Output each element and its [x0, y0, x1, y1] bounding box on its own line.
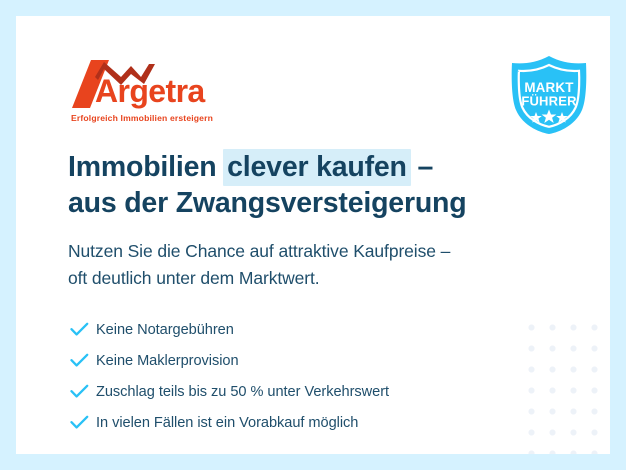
svg-text:Argetra: Argetra — [95, 73, 205, 109]
list-item: Zuschlag teils bis zu 50 % unter Verkehr… — [70, 376, 530, 407]
headline-line-1: Immobilien clever kaufen – — [68, 149, 538, 185]
list-item: In vielen Fällen ist ein Vorabkauf mögli… — [70, 407, 530, 438]
check-icon — [70, 353, 96, 368]
headline-line-2: aus der Zwangsversteigerung — [68, 185, 538, 221]
headline-text-after: – — [410, 151, 433, 183]
badge-line2: FÜHRER — [521, 94, 577, 109]
list-item: Keine Maklerprovision — [70, 345, 530, 376]
list-item: Keine Notargebühren — [70, 314, 530, 345]
argetra-logo[interactable]: Argetra Erfolgreich Immobilien ersteiger… — [69, 60, 269, 132]
list-item-label: Keine Notargebühren — [96, 321, 234, 339]
headline-text-before: Immobilien — [68, 151, 224, 183]
check-icon — [70, 384, 96, 399]
check-icon — [70, 322, 96, 337]
promo-banner: Argetra Erfolgreich Immobilien ersteiger… — [0, 0, 626, 470]
logo-tagline: Erfolgreich Immobilien ersteigern — [71, 113, 213, 123]
check-icon — [70, 415, 96, 430]
benefits-list: Keine Notargebühren Keine Maklerprovisio… — [70, 314, 530, 438]
list-item-label: Zuschlag teils bis zu 50 % unter Verkehr… — [96, 383, 389, 401]
list-item-label: Keine Maklerprovision — [96, 352, 239, 370]
subtitle-line-1: Nutzen Sie die Chance auf attraktive Kau… — [68, 238, 548, 265]
page-title: Immobilien clever kaufen – aus der Zwang… — [68, 149, 538, 221]
banner-card: Argetra Erfolgreich Immobilien ersteiger… — [16, 16, 610, 454]
list-item-label: In vielen Fällen ist ein Vorabkauf mögli… — [96, 414, 358, 432]
subtitle-line-2: oft deutlich unter dem Marktwert. — [68, 265, 548, 292]
page-subtitle: Nutzen Sie die Chance auf attraktive Kau… — [68, 238, 548, 292]
headline-highlight: clever kaufen — [223, 149, 411, 186]
dot-grid-decoration — [518, 314, 610, 454]
markt-fuehrer-badge: MARKT FÜHRER — [506, 54, 592, 136]
argetra-roof-a-icon: Argetra — [69, 60, 259, 110]
